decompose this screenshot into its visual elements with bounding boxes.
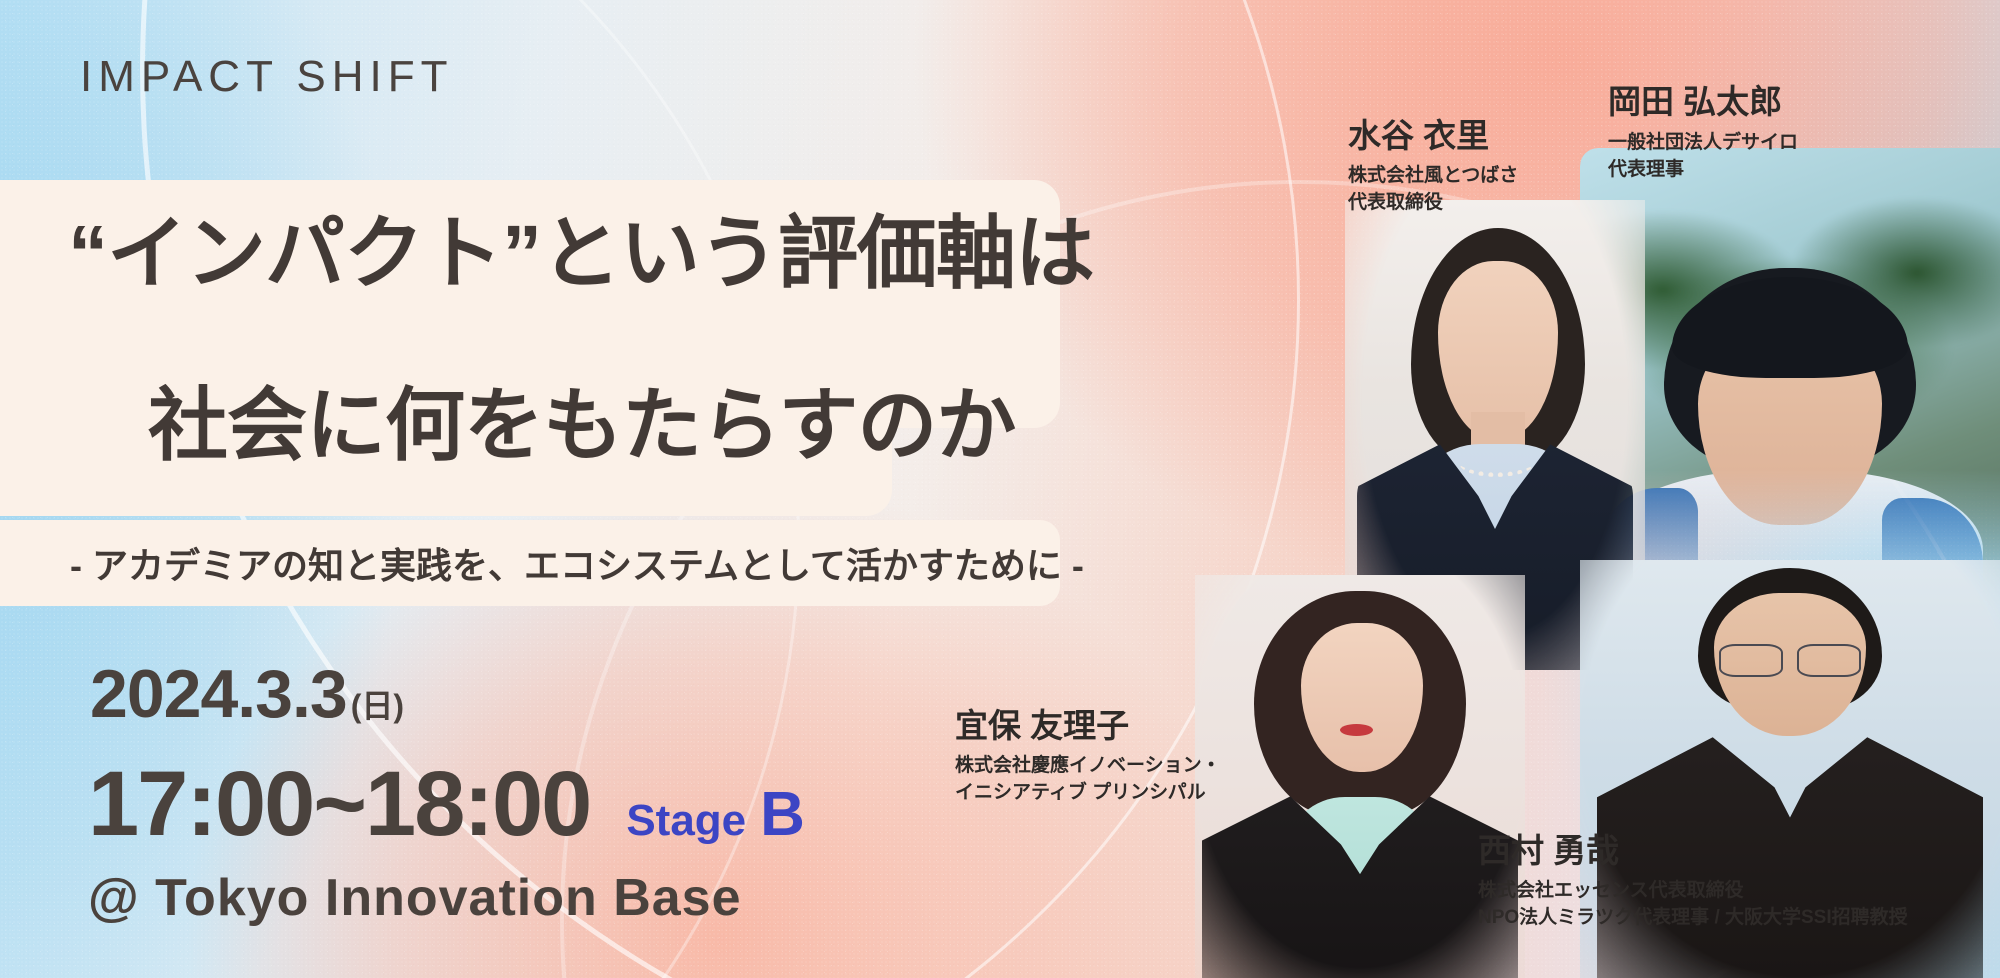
event-date: 2024.3.3 (日): [90, 655, 404, 733]
title-line-2: 社会に何をもたらすのか: [148, 374, 1015, 478]
stage-badge: Stage B: [626, 779, 805, 850]
event-time-value: 17:00~18:00: [88, 752, 590, 857]
nishimura-shirt: [1597, 727, 1983, 978]
speaker-role-gibo: 株式会社慶應イノベーション・イニシアティブ プリンシパル: [955, 753, 1221, 807]
speaker-name-mizutani: 水谷 衣里: [1348, 118, 1489, 154]
speaker-role-okada: 一般社団法人デサイロ代表理事: [1608, 130, 1798, 184]
stage-value: B: [760, 779, 805, 850]
event-date-value: 2024.3.3: [90, 655, 347, 733]
speaker-name-gibo: 宜保 友理子: [955, 708, 1129, 744]
speaker-name-okada: 岡田 弘太郎: [1608, 84, 1782, 120]
brand-logo-text: IMPACT SHIFT: [80, 52, 454, 102]
subtitle-text: - アカデミアの知と実践を、エコシステムとして活かすために -: [0, 537, 1084, 589]
subtitle-card: - アカデミアの知と実践を、エコシステムとして活かすために -: [0, 520, 1060, 606]
event-day-of-week: (日): [351, 681, 404, 727]
event-banner: IMPACT SHIFT “インパクト”という評価軸は 社会に何をもたらすのか …: [0, 0, 2000, 978]
event-venue: @ Tokyo Innovation Base: [88, 868, 742, 928]
glasses-icon: [1719, 644, 1862, 673]
speaker-role-mizutani: 株式会社風とつばさ代表取締役: [1348, 163, 1518, 217]
speaker-name-nishimura: 西村 勇哉: [1478, 833, 1619, 869]
title-line-1: “インパクト”という評価軸は: [0, 206, 1060, 302]
speaker-photo-gibo: [1195, 575, 1525, 978]
stage-label: Stage: [626, 796, 746, 846]
speaker-role-nishimura: 株式会社エッセンス代表取締役NPO法人ミラツク代表理事 / 大阪大学SSI招聘教…: [1478, 878, 1908, 932]
event-time-row: 17:00~18:00 Stage B: [88, 752, 805, 857]
